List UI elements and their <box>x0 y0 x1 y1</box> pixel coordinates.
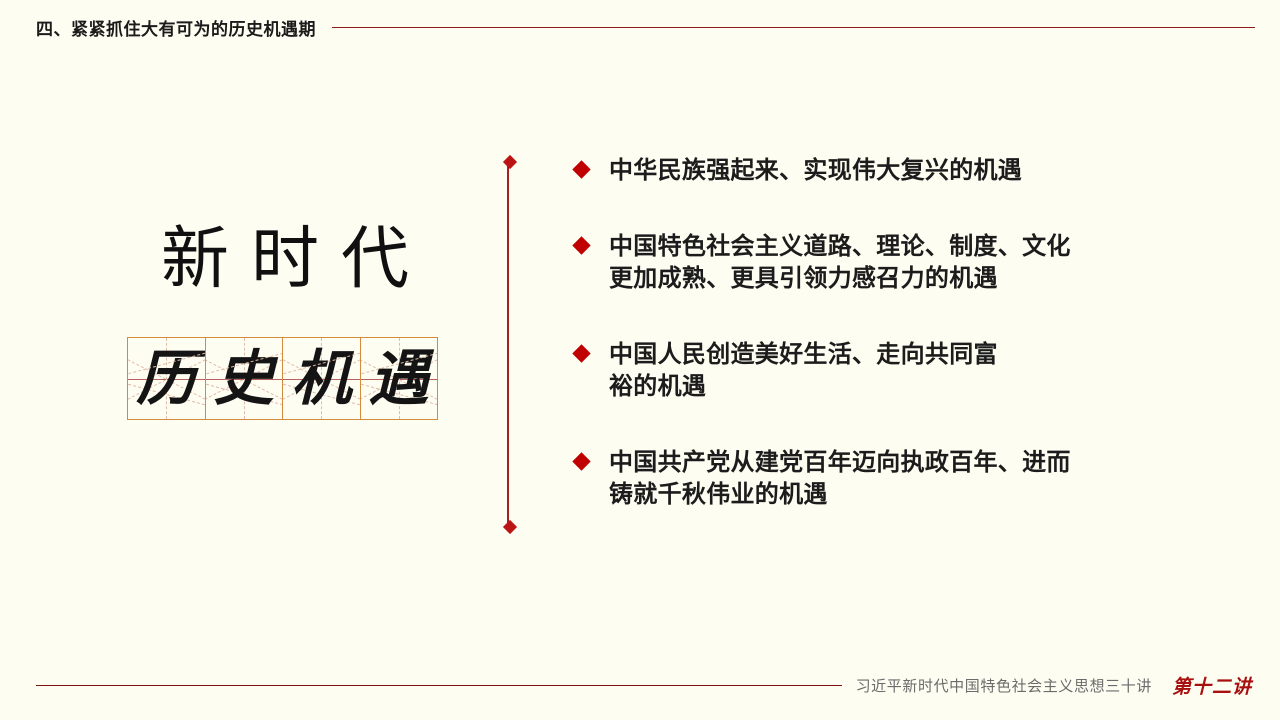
list-item-label: 中国特色社会主义道路、理论、制度、文化 更加成熟、更具引领力感召力的机遇 <box>609 231 1071 295</box>
list-item-label: 中国共产党从建党百年迈向执政百年、进而 铸就千秋伟业的机遇 <box>609 447 1071 511</box>
grid-character: 史 <box>206 338 283 419</box>
presentation-slide: 四、紧紧抓住大有可为的历史机遇期 新时代 历 史 机 <box>0 0 1280 720</box>
list-item: 中国共产党从建党百年迈向执政百年、进而 铸就千秋伟业的机遇 <box>575 447 1215 511</box>
calligraphy-rice-grid: 历 史 机 遇 <box>127 337 438 420</box>
grid-cell: 史 <box>206 338 284 419</box>
slide-footer: 习近平新时代中国特色社会主义思想三十讲 第十二讲 <box>0 672 1280 698</box>
grid-character: 机 <box>283 338 360 419</box>
list-item-label: 中国人民创造美好生活、走向共同富 裕的机遇 <box>609 339 998 403</box>
slide-header: 四、紧紧抓住大有可为的历史机遇期 <box>0 12 1280 42</box>
footer-divider-line <box>36 685 842 686</box>
list-item: 中国特色社会主义道路、理论、制度、文化 更加成熟、更具引领力感召力的机遇 <box>575 231 1215 295</box>
list-item-label: 中华民族强起来、实现伟大复兴的机遇 <box>609 155 1022 187</box>
opportunity-bullet-list: 中华民族强起来、实现伟大复兴的机遇 中国特色社会主义道路、理论、制度、文化 更加… <box>575 155 1215 555</box>
diamond-cap-icon <box>503 520 517 534</box>
grid-character: 遇 <box>361 338 438 419</box>
diamond-bullet-icon <box>572 236 590 254</box>
footer-source-label: 习近平新时代中国特色社会主义思想三十讲 <box>856 675 1152 696</box>
diamond-bullet-icon <box>572 452 590 470</box>
grid-cell: 历 <box>128 338 206 419</box>
diamond-cap-icon <box>503 155 517 169</box>
header-title: 四、紧紧抓住大有可为的历史机遇期 <box>36 15 316 40</box>
header-divider-line <box>332 27 1255 28</box>
vertical-red-divider <box>507 162 509 527</box>
grid-character: 历 <box>128 338 205 419</box>
footer-lecture-number: 第十二讲 <box>1172 672 1252 699</box>
era-title-block: 新时代 <box>120 215 450 303</box>
grid-cell: 机 <box>283 338 361 419</box>
grid-cell: 遇 <box>361 338 438 419</box>
list-item: 中国人民创造美好生活、走向共同富 裕的机遇 <box>575 339 1215 403</box>
diamond-bullet-icon <box>572 344 590 362</box>
era-title: 新时代 <box>120 215 450 303</box>
list-item: 中华民族强起来、实现伟大复兴的机遇 <box>575 155 1215 187</box>
diamond-bullet-icon <box>572 160 590 178</box>
